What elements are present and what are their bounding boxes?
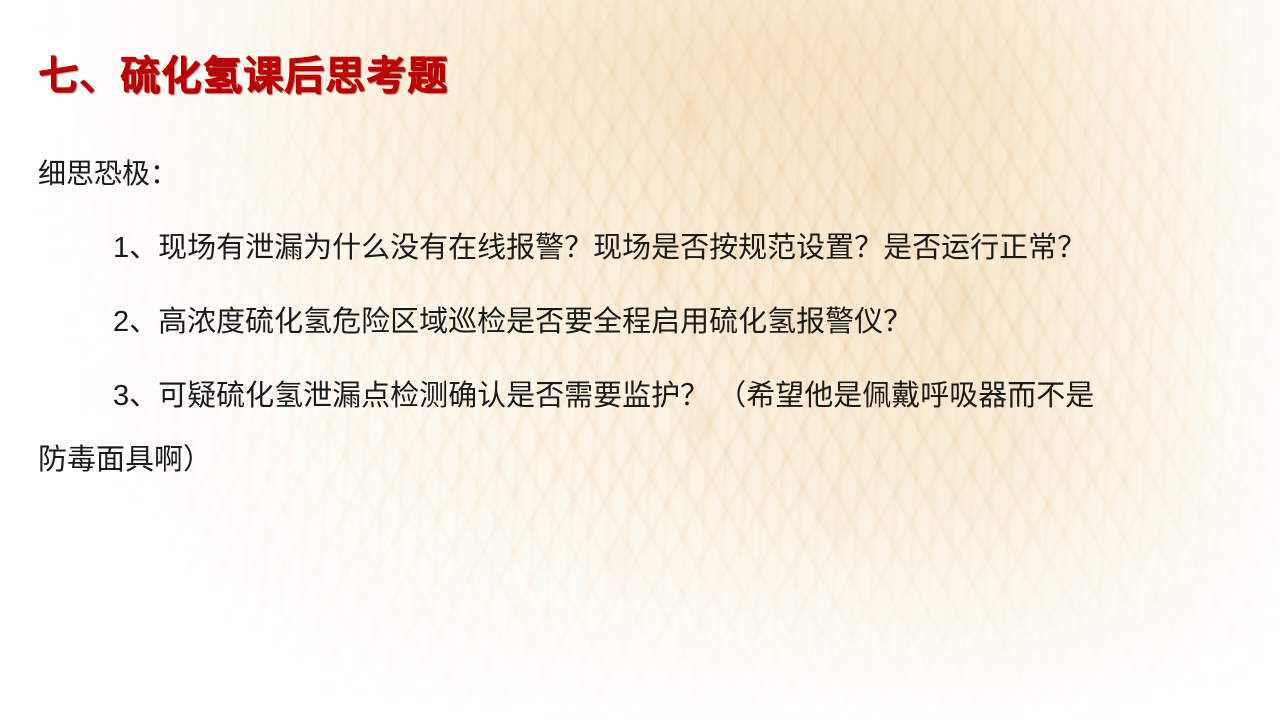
question-text-3-continuation: 防毒面具啊） <box>38 440 1220 481</box>
question-item-2: 2、高浓度硫化氢危险区域巡检是否要全程启用硫化氢报警仪？ <box>0 302 1280 343</box>
lead-in-text: 细思恐极： <box>38 154 178 193</box>
question-text-1: 现场有泄漏为什么没有在线报警？现场是否按规范设置？是否运行正常？ <box>158 232 1086 264</box>
question-number-1: 1、 <box>113 232 158 264</box>
question-number-2: 2、 <box>113 306 158 338</box>
slide-title: 七、硫化氢课后思考题 <box>38 53 448 99</box>
presentation-slide: 七、硫化氢课后思考题 细思恐极： 1、现场有泄漏为什么没有在线报警？现场是否按规… <box>0 0 1280 720</box>
question-text-2: 高浓度硫化氢危险区域巡检是否要全程启用硫化氢报警仪？ <box>158 306 912 338</box>
slide-content: 七、硫化氢课后思考题 细思恐极： 1、现场有泄漏为什么没有在线报警？现场是否按规… <box>0 0 1280 720</box>
question-item-3: 3、可疑硫化氢泄漏点检测确认是否需要监护？ （希望他是佩戴呼吸器而不是 防毒面具… <box>0 376 1280 480</box>
question-list: 1、现场有泄漏为什么没有在线报警？现场是否按规范设置？是否运行正常？ 2、高浓度… <box>0 228 1280 514</box>
question-text-3: 可疑硫化氢泄漏点检测确认是否需要监护？ （希望他是佩戴呼吸器而不是 <box>158 380 1094 412</box>
question-number-3: 3、 <box>113 380 158 412</box>
question-item-1: 1、现场有泄漏为什么没有在线报警？现场是否按规范设置？是否运行正常？ <box>0 228 1280 269</box>
